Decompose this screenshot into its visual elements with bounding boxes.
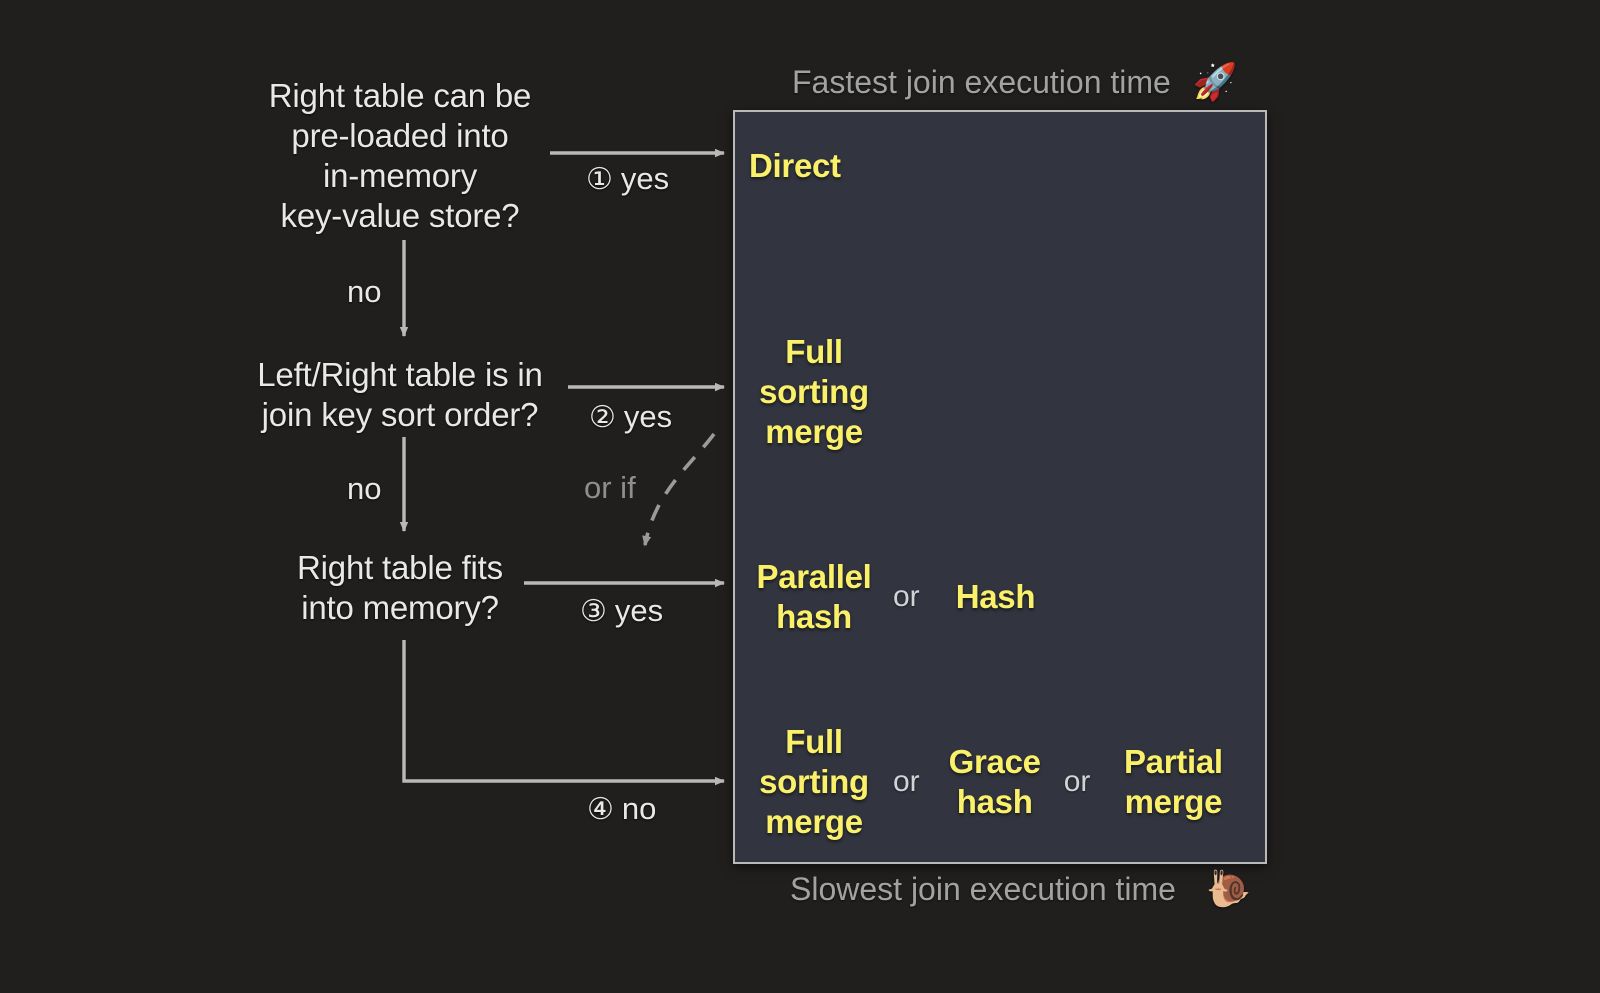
- circled-number-3: ③: [580, 595, 607, 628]
- caption-fastest-text: Fastest join execution time: [792, 63, 1171, 101]
- edge-label-yes-1-text: yes: [621, 161, 669, 196]
- edge-label-no-1: no: [347, 274, 381, 310]
- option-separator-or-row4-b: or: [1050, 765, 1105, 799]
- option-separator-or-row3: or: [879, 580, 934, 614]
- option-full-sorting-merge-2: Full sorting merge: [749, 722, 879, 842]
- edge-label-yes-3: ③yes: [580, 593, 663, 630]
- caption-slowest-text: Slowest join execution time: [790, 870, 1176, 908]
- option-row-1: Direct: [735, 134, 1265, 198]
- decision-question-3: Right table fits into memory?: [198, 548, 602, 628]
- edge-label-or-if: or if: [584, 470, 636, 506]
- option-parallel-hash: Parallel hash: [749, 557, 879, 637]
- option-full-sorting-merge-1: Full sorting merge: [749, 332, 879, 452]
- edge-no-4: [404, 640, 724, 781]
- option-row-4: Full sorting merge or Grace hash or Part…: [735, 712, 1265, 852]
- option-grace-hash: Grace hash: [940, 742, 1050, 822]
- edge-label-no-4: ④no: [587, 791, 656, 828]
- option-partial-merge: Partial merge: [1110, 742, 1236, 822]
- edge-label-yes-3-text: yes: [615, 593, 663, 628]
- decision-question-1: Right table can be pre-loaded into in-me…: [204, 76, 596, 236]
- option-separator-or-row4-a: or: [879, 765, 934, 799]
- diagram-canvas: Right table can be pre-loaded into in-me…: [0, 0, 1600, 993]
- join-algorithm-panel: Direct Full sorting merge Parallel hash …: [733, 110, 1267, 864]
- snail-icon: 🐌: [1206, 871, 1251, 907]
- edge-label-yes-2: ②yes: [589, 399, 672, 436]
- edge-label-yes-2-text: yes: [624, 399, 672, 434]
- circled-number-4: ④: [587, 793, 614, 826]
- caption-slowest: Slowest join execution time 🐌: [790, 870, 1251, 908]
- edge-label-no-2: no: [347, 471, 381, 507]
- circled-number-1: ①: [586, 163, 613, 196]
- edge-label-yes-1: ①yes: [586, 161, 669, 198]
- rocket-icon: 🚀: [1193, 64, 1238, 100]
- caption-fastest: Fastest join execution time 🚀: [792, 63, 1238, 101]
- option-row-3: Parallel hash or Hash: [735, 542, 1265, 652]
- option-direct: Direct: [749, 146, 841, 186]
- option-hash: Hash: [956, 577, 1036, 617]
- circled-number-2: ②: [589, 401, 616, 434]
- option-row-2: Full sorting merge: [735, 327, 1265, 457]
- edge-or-if-dashed: [645, 434, 714, 545]
- edge-label-no-4-text: no: [622, 791, 656, 826]
- decision-question-2: Left/Right table is in join key sort ord…: [196, 355, 604, 435]
